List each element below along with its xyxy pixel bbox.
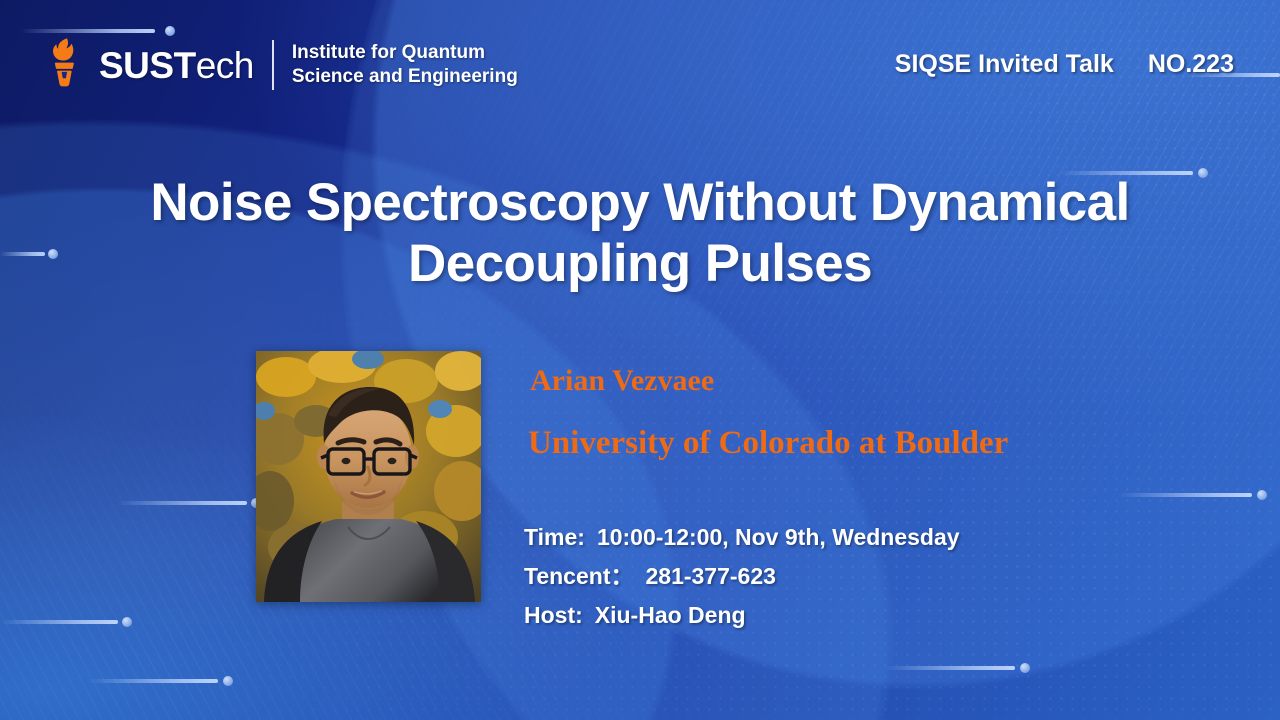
talk-meta: SIQSE Invited Talk NO.223	[895, 50, 1234, 79]
decor-line-dot-bottom-left	[88, 678, 236, 684]
logo-divider	[272, 40, 274, 90]
detail-row-tencent: Tencent：281-377-623	[524, 557, 1224, 596]
speaker-info: Arian Vezvaee University of Colorado at …	[524, 366, 1224, 635]
detail-value-time: 10:00-12:00, Nov 9th, Wednesday	[597, 518, 960, 557]
seminar-poster: SUSTech Institute for Quantum Science an…	[0, 0, 1280, 720]
decor-line-dot-bottom-center	[884, 665, 1032, 671]
torch-flame-icon	[43, 37, 85, 93]
sustech-wordmark: SUSTech	[99, 47, 254, 84]
institute-line-2: Science and Engineering	[292, 65, 518, 89]
talk-details: Time:10:00-12:00, Nov 9th, Wednesday Ten…	[524, 518, 1224, 635]
decor-line-dot-left-upper	[0, 251, 62, 257]
speaker-portrait-image	[256, 351, 481, 602]
detail-value-host: Xiu-Hao Deng	[595, 596, 746, 635]
talk-title-line-1: Noise Spectroscopy Without Dynamical	[70, 172, 1210, 233]
talk-series-label: SIQSE Invited Talk	[895, 50, 1114, 79]
speaker-photo	[256, 351, 481, 602]
detail-value-tencent: 281-377-623	[645, 557, 775, 596]
talk-title-line-2: Decoupling Pulses	[70, 233, 1210, 294]
detail-row-time: Time:10:00-12:00, Nov 9th, Wednesday	[524, 518, 1224, 557]
decor-line-dot-left-lower	[0, 619, 136, 625]
detail-row-host: Host:Xiu-Hao Deng	[524, 596, 1224, 635]
speaker-affiliation: University of Colorado at Boulder	[528, 427, 1224, 460]
detail-label-tencent: Tencent：	[524, 557, 633, 596]
detail-label-time: Time:	[524, 518, 585, 557]
talk-number: NO.223	[1148, 50, 1234, 79]
decor-line-dot-top-left	[20, 28, 170, 34]
institute-line-1: Institute for Quantum	[292, 41, 518, 65]
wordmark-bold: SUST	[99, 45, 196, 86]
speaker-name: Arian Vezvaee	[530, 366, 1224, 396]
institute-name: Institute for Quantum Science and Engine…	[292, 41, 518, 90]
sustech-logo: SUSTech Institute for Quantum Science an…	[43, 37, 518, 93]
detail-label-host: Host:	[524, 596, 583, 635]
decor-line-dot-left-middle	[117, 500, 263, 506]
talk-title: Noise Spectroscopy Without Dynamical Dec…	[70, 172, 1210, 295]
wordmark-light: ech	[196, 45, 254, 86]
